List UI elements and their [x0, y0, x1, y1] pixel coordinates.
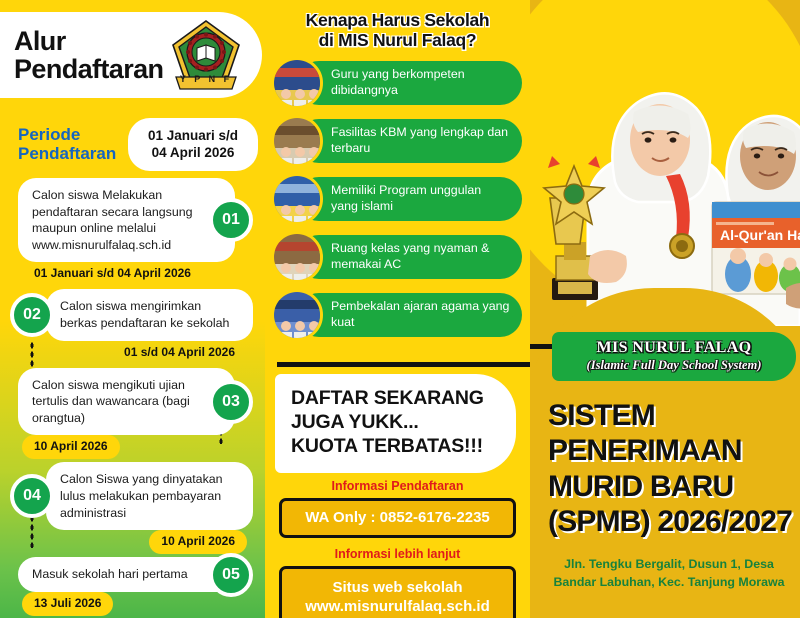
- whatsapp-contact-button[interactable]: WA Only : 0852-6176-2235: [279, 498, 516, 538]
- students-lineup-photo: [271, 173, 323, 225]
- step-date: 10 April 2026: [22, 435, 120, 459]
- registration-step: Calon siswa Melakukan pendaftaran secara…: [0, 178, 265, 286]
- website-button[interactable]: Situs web sekolah www.misnurulfalaq.sch.…: [279, 566, 516, 618]
- feature-label: Memiliki Program unggulan yang islami: [297, 177, 522, 221]
- feature-label: Ruang kelas yang nyaman & memakai AC: [297, 235, 522, 279]
- feature-label: Fasilitas KBM yang lengkap dan terbaru: [297, 119, 522, 163]
- step-number-badge: 04: [10, 474, 54, 518]
- registration-info-label: Informasi Pendaftaran: [265, 479, 530, 493]
- teachers-group-photo: [271, 57, 323, 109]
- registration-period-row: Periode Pendaftaran 01 Januari s/d 04 Ap…: [18, 118, 258, 171]
- school-name-banner: MIS NURUL FALAQ (Islamic Full Day School…: [552, 332, 796, 381]
- registration-step: Calon siswa mengirimkan berkas pendaftar…: [0, 289, 265, 364]
- step-description: Masuk sekolah hari pertama: [18, 557, 235, 592]
- classroom-photo: [271, 115, 323, 167]
- cta-card: DAFTAR SEKARANG JUGA YUKK... KUOTA TERBA…: [275, 374, 516, 473]
- section-divider: [277, 362, 530, 367]
- why-choose-title: Kenapa Harus Sekolah di MIS Nurul Falaq?: [273, 10, 522, 51]
- feature-label: Pembekalan ajaran agama yang kuat: [297, 293, 522, 337]
- step-description: Calon siswa mengikuti ujian tertulis dan…: [18, 368, 235, 436]
- step-description: Calon siswa Melakukan pendaftaran secara…: [18, 178, 235, 262]
- step-description: Calon Siswa yang dinyatakan lulus melaku…: [46, 462, 253, 530]
- step-number-badge: 05: [209, 553, 253, 597]
- school-crest-logo: Y P N F: [168, 17, 244, 93]
- school-address: Jln. Tengku Bergalit, Dusun 1, Desa Band…: [544, 556, 794, 591]
- classroom-interior-photo: [271, 231, 323, 283]
- registration-steps-list: Calon siswa Melakukan pendaftaran secara…: [0, 178, 265, 618]
- school-assembly-photo: [271, 289, 323, 341]
- feature-label: Guru yang berkompeten dibidangnya: [297, 61, 522, 105]
- left-header-card: Alur Pendaftaran: [0, 12, 262, 98]
- svg-text:Al-Qur'an Hadis: Al-Qur'an Hadis: [720, 227, 800, 243]
- students-photo: Al-Qur'an Hadis: [530, 6, 800, 326]
- registration-step: Masuk sekolah hari pertama0513 Juli 2026: [0, 557, 265, 616]
- feature-item: Fasilitas KBM yang lengkap dan terbaru: [271, 115, 522, 167]
- feature-item: Pembekalan ajaran agama yang kuat: [271, 289, 522, 341]
- spmb-brochure: Alur Pendaftaran: [0, 0, 800, 618]
- why-choose-column: Kenapa Harus Sekolah di MIS Nurul Falaq?…: [265, 0, 530, 618]
- step-connector: [30, 514, 34, 548]
- school-subtitle: (Islamic Full Day School System): [560, 358, 788, 373]
- feature-item: Guru yang berkompeten dibidangnya: [271, 57, 522, 109]
- registration-step: Calon Siswa yang dinyatakan lulus melaku…: [0, 462, 265, 554]
- cta-line-3: KUOTA TERBATAS!!!: [291, 435, 500, 459]
- step-number-badge: 02: [10, 293, 54, 337]
- step-number-badge: 03: [209, 380, 253, 424]
- school-name: MIS NURUL FALAQ: [560, 339, 788, 357]
- registration-period-value: 01 Januari s/d 04 April 2026: [128, 118, 258, 171]
- step-description: Calon siswa mengirimkan berkas pendaftar…: [46, 289, 253, 340]
- logo-ribbon-text: Y P N F: [168, 74, 244, 84]
- main-headline: SISTEM PENERIMAAN MURID BARU (SPMB) 2026…: [548, 398, 798, 540]
- cta-line-2: JUGA YUKK...: [291, 411, 500, 435]
- cta-line-1: DAFTAR SEKARANG: [291, 387, 500, 411]
- branding-column: Al-Qur'an Hadis MIS NURUL FALAQ (Islamic…: [530, 0, 800, 618]
- registration-period-label: Periode Pendaftaran: [18, 125, 122, 163]
- step-number-badge: 01: [209, 198, 253, 242]
- registration-step: Calon siswa mengikuti ujian tertulis dan…: [0, 368, 265, 460]
- feature-item: Memiliki Program unggulan yang islami: [271, 173, 522, 225]
- step-date: 01 Januari s/d 04 April 2026: [22, 262, 203, 286]
- step-date: 10 April 2026: [149, 530, 247, 554]
- page-title: Alur Pendaftaran: [14, 27, 163, 83]
- feature-item: Ruang kelas yang nyaman & memakai AC: [271, 231, 522, 283]
- registration-flow-column: Alur Pendaftaran: [0, 0, 265, 618]
- feature-list: Guru yang berkompeten dibidangnyaFasilit…: [265, 57, 530, 341]
- step-date: 01 s/d 04 April 2026: [112, 341, 247, 365]
- step-date: 13 Juli 2026: [22, 592, 113, 616]
- further-info-label: Informasi lebih lanjut: [265, 547, 530, 561]
